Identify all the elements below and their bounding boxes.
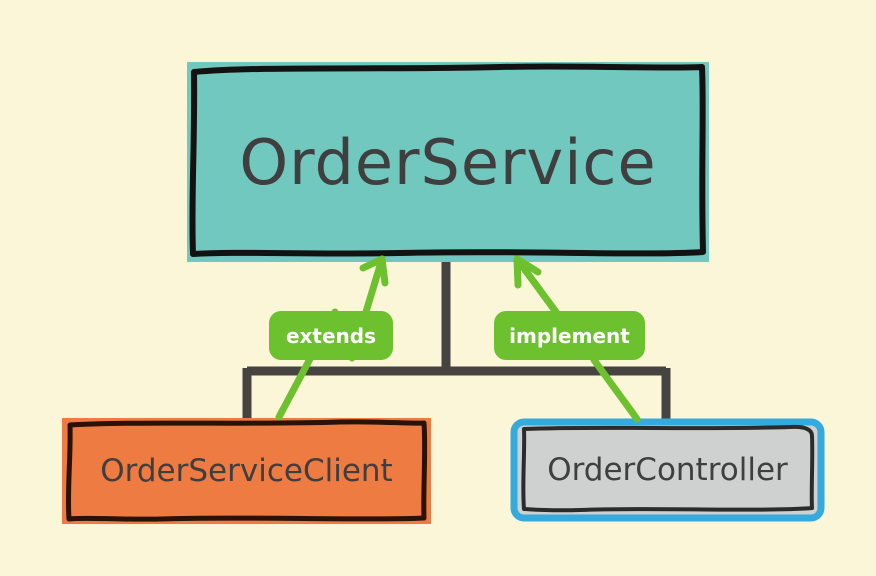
diagram-canvas: OrderService OrderServiceClient OrderCon… — [0, 0, 876, 576]
node-ordercontroller[interactable] — [512, 420, 823, 520]
node-orderserviceclient[interactable] — [62, 418, 431, 524]
edge-label-pill-extends[interactable] — [269, 311, 393, 360]
diagram-svg — [0, 0, 876, 576]
node-orderservice[interactable] — [187, 62, 709, 262]
node-ordercontroller-fill — [512, 420, 823, 520]
node-orderservice-fill — [187, 62, 709, 262]
edge-label-pill-implement[interactable] — [494, 311, 645, 360]
edge-implement-upper-segment — [517, 259, 556, 312]
node-orderserviceclient-fill — [62, 418, 431, 524]
